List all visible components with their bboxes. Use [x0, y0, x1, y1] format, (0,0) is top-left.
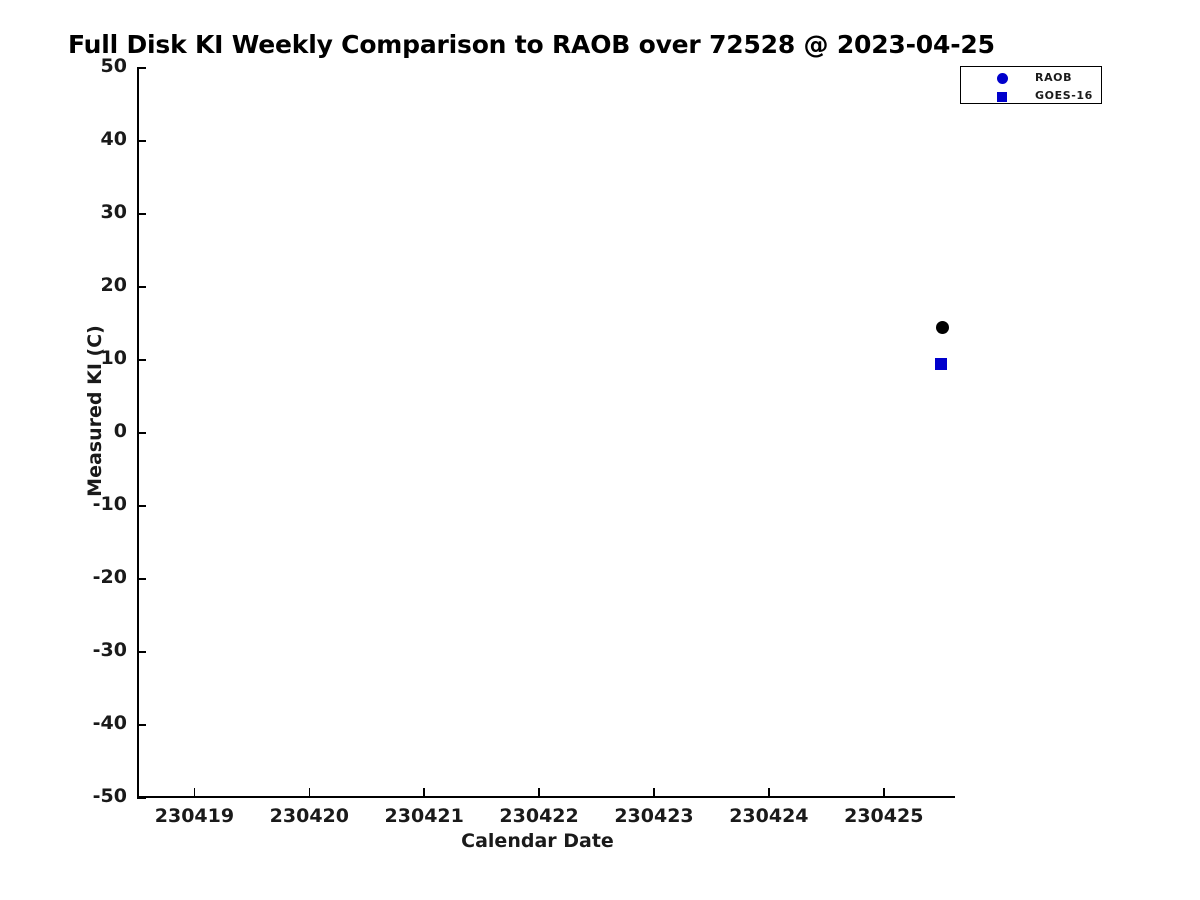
plot-area — [137, 68, 955, 798]
legend-entry: GOES-16 — [961, 87, 1101, 106]
y-axis-title: Measured KI (C) — [84, 311, 106, 511]
legend-entry: RAOB — [961, 69, 1101, 88]
y-axis-tick — [137, 359, 146, 361]
x-axis-tick — [423, 788, 425, 797]
y-axis-tick — [137, 651, 146, 653]
x-axis-tick — [538, 788, 540, 797]
chart-legend: RAOBGOES-16 — [960, 66, 1102, 104]
y-axis-tick-label: -20 — [7, 566, 127, 588]
x-axis-line — [137, 796, 955, 798]
y-axis-tick-label: -10 — [7, 493, 127, 515]
x-axis-tick — [309, 788, 311, 797]
legend-marker-shape — [997, 92, 1007, 102]
x-axis-tick — [653, 788, 655, 797]
legend-label: RAOB — [1035, 71, 1072, 84]
y-axis-tick — [137, 432, 146, 434]
data-point-goes-16 — [935, 358, 947, 370]
y-axis-tick — [137, 578, 146, 580]
y-axis-tick — [137, 797, 146, 799]
chart-title: Full Disk KI Weekly Comparison to RAOB o… — [68, 30, 995, 59]
legend-marker-circle-icon — [993, 69, 1011, 88]
x-axis-tick-label: 230425 — [804, 805, 964, 827]
x-axis-tick — [768, 788, 770, 797]
y-axis-tick-label: 30 — [7, 201, 127, 223]
y-axis-tick-label: -40 — [7, 712, 127, 734]
y-axis-tick-label: 50 — [7, 55, 127, 77]
y-axis-tick-label: -30 — [7, 639, 127, 661]
y-axis-tick-label: 0 — [7, 420, 127, 442]
y-axis-tick-label: -50 — [7, 785, 127, 807]
y-axis-tick — [137, 213, 146, 215]
chart-figure: Full Disk KI Weekly Comparison to RAOB o… — [0, 0, 1200, 900]
x-axis-title: Calendar Date — [0, 830, 1075, 852]
y-axis-tick-label: 40 — [7, 128, 127, 150]
y-axis-tick — [137, 505, 146, 507]
data-point-raob — [936, 321, 949, 334]
y-axis-tick — [137, 724, 146, 726]
legend-marker-shape — [997, 73, 1008, 84]
y-axis-tick-label: 20 — [7, 274, 127, 296]
y-axis-tick — [137, 140, 146, 142]
legend-marker-square-icon — [993, 87, 1011, 106]
y-axis-tick — [137, 67, 146, 69]
x-axis-tick — [194, 788, 196, 797]
y-axis-tick-label: 10 — [7, 347, 127, 369]
y-axis-tick — [137, 286, 146, 288]
legend-label: GOES-16 — [1035, 89, 1093, 102]
x-axis-tick — [883, 788, 885, 797]
